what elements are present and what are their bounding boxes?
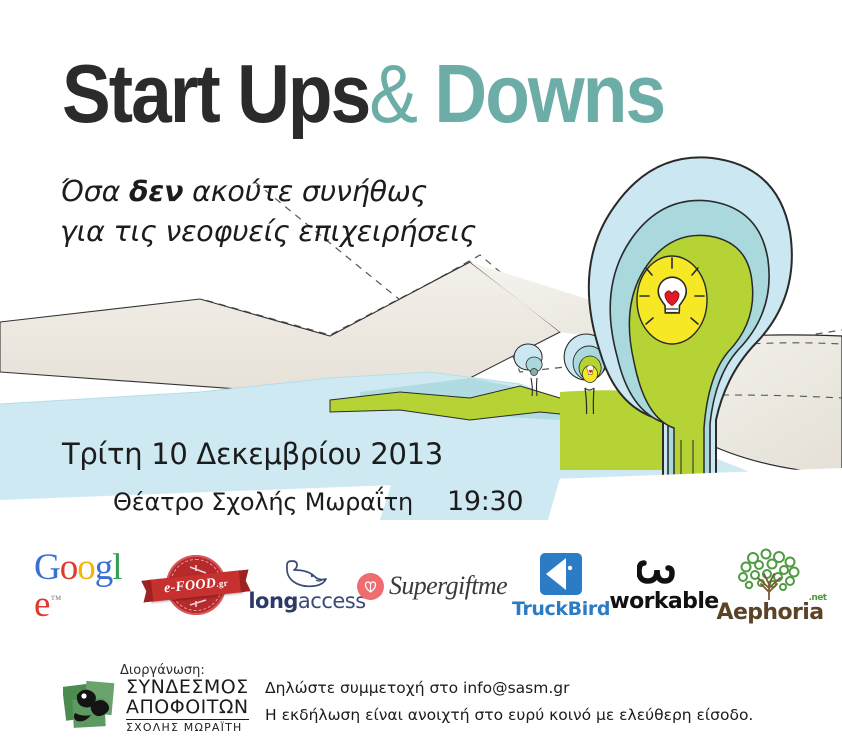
google-letter-l: l xyxy=(112,549,121,586)
workable-wordmark: workable xyxy=(609,589,718,614)
subtitle-line-1-after: ακούτε συνήθως xyxy=(183,175,427,208)
heart-bow-icon xyxy=(362,578,379,595)
organizer-name-line-3: ΣΧΟΛΗΣ ΜΩΡΑΪΤΗ xyxy=(126,722,249,733)
event-date: Τρίτη 10 Δεκεμβρίου 2013 xyxy=(62,437,443,471)
efood-tld-text: .gr xyxy=(216,578,229,589)
event-venue: Θέατρο Σχολής Μωραΐτη xyxy=(113,488,413,516)
sponsor-logos: Google™ e-FOOD.gr longaccess xyxy=(0,540,842,632)
page-title: Start Ups& Downs xyxy=(62,52,664,135)
event-time: 19:30 xyxy=(447,486,523,517)
google-wordmark: Google™ xyxy=(34,549,126,623)
efood-badge-icon: e-FOOD.gr xyxy=(150,555,242,617)
organizer-name-line-2: ΑΠΟΦΟΙΤΩΝ xyxy=(126,698,249,720)
sponsor-logo-aephoria[interactable]: Aephoria.net xyxy=(716,540,824,632)
sponsor-logo-efood[interactable]: e-FOOD.gr xyxy=(148,540,244,632)
supergiftme-wordmark: Supergiftme xyxy=(389,571,507,601)
truckbird-mark-icon xyxy=(540,553,582,595)
subtitle-emphasis: δεν xyxy=(129,175,183,208)
title-part-1: Start Ups xyxy=(62,47,369,140)
title-part-2: Downs xyxy=(416,47,664,140)
truckbird-wordmark: TruckBird xyxy=(512,598,610,620)
longaccess-bold-text: long xyxy=(248,589,298,613)
contact-line-2: Η εκδήλωση είναι ανοιχτή στο ευρύ κοινό … xyxy=(265,702,753,729)
supergiftme-circle xyxy=(357,573,384,600)
aephoria-tld-text: .net xyxy=(809,593,827,603)
sasm-emblem-icon xyxy=(63,679,119,731)
google-letter-o1: o xyxy=(60,549,78,586)
workable-mark-icon xyxy=(637,559,691,589)
event-venue-row: Θέατρο Σχολής Μωραΐτη 19:30 xyxy=(113,486,523,517)
poster-canvas: Start Ups& Downs Όσα δεν ακούτε συνήθως … xyxy=(0,0,842,738)
supergiftme-lockup: Supergiftme xyxy=(357,571,507,601)
sponsor-logo-longaccess[interactable]: longaccess xyxy=(248,540,366,632)
google-letter-g1: G xyxy=(34,549,60,586)
efood-wordmark: e-FOOD.gr xyxy=(163,575,228,598)
aephoria-wordmark: Aephoria.net xyxy=(717,600,824,625)
whale-icon xyxy=(281,559,333,589)
longaccess-lockup: longaccess xyxy=(248,559,365,613)
tree-circles-icon xyxy=(733,548,807,600)
sponsor-logo-workable[interactable]: workable xyxy=(614,540,714,632)
aephoria-main-text: Aephoria xyxy=(717,600,824,625)
longaccess-light-text: access xyxy=(298,589,366,613)
sponsor-logo-truckbird[interactable]: TruckBird xyxy=(512,540,610,632)
subtitle-line-2: για τις νεοφυείς επιχειρήσεις xyxy=(60,212,580,252)
truckbird-lockup: TruckBird xyxy=(512,553,610,620)
efood-main-text: e-FOOD xyxy=(163,576,217,596)
aephoria-lockup: Aephoria.net xyxy=(717,548,824,625)
sponsor-logo-google[interactable]: Google™ xyxy=(34,540,126,632)
google-letter-g2: g xyxy=(95,549,113,586)
google-letter-e: e xyxy=(34,586,49,623)
contact-line-1: Δηλώστε συμμετοχή στο info@sasm.gr xyxy=(265,675,753,702)
trademark-icon: ™ xyxy=(50,595,60,606)
subtitle-line-1: Όσα δεν ακούτε συνήθως xyxy=(60,172,580,212)
longaccess-wordmark: longaccess xyxy=(248,589,365,613)
subtitle: Όσα δεν ακούτε συνήθως για τις νεοφυείς … xyxy=(60,172,580,253)
workable-lockup: workable xyxy=(609,559,718,614)
subtitle-line-1-before: Όσα xyxy=(60,175,129,208)
title-ampersand: & xyxy=(369,47,416,140)
contact-info: Δηλώστε συμμετοχή στο info@sasm.gr Η εκδ… xyxy=(265,675,753,729)
organizer-name-line-1: ΣΥΝΔΕΣΜΟΣ xyxy=(126,678,249,698)
organizer-logo[interactable]: ΣΥΝΔΕΣΜΟΣ ΑΠΟΦΟΙΤΩΝ ΣΧΟΛΗΣ ΜΩΡΑΪΤΗ xyxy=(63,678,249,733)
google-letter-o2: o xyxy=(77,549,95,586)
sponsor-logo-supergiftme[interactable]: Supergiftme xyxy=(362,540,502,632)
organizer-name: ΣΥΝΔΕΣΜΟΣ ΑΠΟΦΟΙΤΩΝ ΣΧΟΛΗΣ ΜΩΡΑΪΤΗ xyxy=(126,678,249,733)
